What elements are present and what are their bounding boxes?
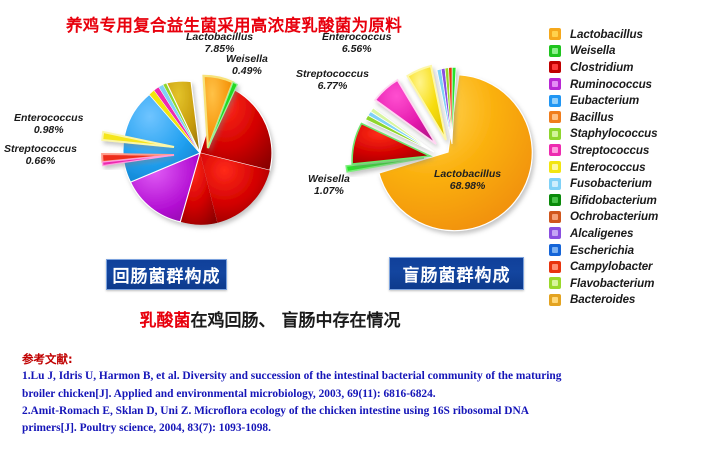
left-callout-enterococcus-pct: 0.98% bbox=[14, 124, 83, 136]
legend-swatch-icon bbox=[549, 194, 561, 206]
legend-swatch-icon bbox=[549, 111, 561, 123]
legend-item: Clostridium bbox=[545, 59, 703, 76]
cecum-chart-caption-text: 盲肠菌群构成 bbox=[403, 261, 511, 286]
legend-item: Fusobacterium bbox=[545, 175, 703, 192]
legend-item-label: Bacteroides bbox=[570, 293, 635, 306]
legend-item-label: Flavobacterium bbox=[570, 277, 654, 290]
references-block: 参考文献: 1.Lu J, Idris U, Harmon B, et al. … bbox=[22, 351, 682, 438]
right-callout-weisella-pct: 1.07% bbox=[308, 185, 350, 197]
legend-swatch-inner-icon bbox=[552, 181, 558, 187]
legend-item: Lactobacillus bbox=[545, 26, 703, 43]
right-callout-streptococcus-pct: 6.77% bbox=[296, 80, 369, 92]
legend-swatch-icon bbox=[549, 161, 561, 173]
legend-swatch-inner-icon bbox=[552, 98, 558, 104]
legend-item-label: Campylobacter bbox=[570, 260, 652, 273]
legend-swatch-inner-icon bbox=[552, 214, 558, 220]
legend-item-label: Alcaligenes bbox=[570, 227, 633, 240]
left-callout-enterococcus: Enterococcus 0.98% bbox=[14, 112, 83, 137]
legend-swatch-inner-icon bbox=[552, 48, 558, 54]
legend-swatch-icon bbox=[549, 227, 561, 239]
reference-line-4: primers[J]. Poultry science, 2004, 83(7)… bbox=[22, 420, 682, 437]
summary-caption: 乳酸菌在鸡回肠、 盲肠中存在情况 bbox=[0, 306, 540, 331]
right-callout-enterococcus: Enterococcus 6.56% bbox=[322, 31, 391, 56]
legend-item-label: Ochrobacterium bbox=[570, 210, 658, 223]
legend-swatch-icon bbox=[549, 28, 561, 40]
legend-item-label: Enterococcus bbox=[570, 161, 645, 174]
right-callout-lactobacillus-name: Lactobacillus bbox=[434, 168, 501, 180]
legend-item-label: Lactobacillus bbox=[570, 28, 643, 41]
legend-item: Alcaligenes bbox=[545, 225, 703, 242]
legend-swatch-icon bbox=[549, 261, 561, 273]
left-callout-streptococcus-name: Streptococcus bbox=[4, 143, 77, 155]
legend-swatch-inner-icon bbox=[552, 230, 558, 236]
genus-legend: LactobacillusWeisellaClostridiumRuminoco… bbox=[545, 26, 703, 308]
legend-item-label: Fusobacterium bbox=[570, 177, 652, 190]
page-title: 养鸡专用复合益生菌采用高浓度乳酸菌为原料 bbox=[66, 12, 486, 36]
references-heading: 参考文献: bbox=[22, 351, 682, 368]
ileum-pie-chart bbox=[92, 50, 322, 255]
legend-swatch-inner-icon bbox=[552, 64, 558, 70]
legend-swatch-icon bbox=[549, 78, 561, 90]
ileum-chart-caption-text: 回肠菌群构成 bbox=[113, 262, 221, 287]
legend-item-label: Eubacterium bbox=[570, 94, 639, 107]
legend-item: Bacteroides bbox=[545, 292, 703, 309]
legend-item-label: Staphylococcus bbox=[570, 127, 658, 140]
legend-item: Escherichia bbox=[545, 242, 703, 259]
cecum-chart-caption-box: 盲肠菌群构成 bbox=[389, 257, 524, 290]
right-callout-streptococcus: Streptococcus 6.77% bbox=[296, 68, 369, 93]
right-callout-streptococcus-name: Streptococcus bbox=[296, 68, 369, 80]
legend-item: Campylobacter bbox=[545, 258, 703, 275]
legend-swatch-icon bbox=[549, 45, 561, 57]
legend-swatch-icon bbox=[549, 294, 561, 306]
legend-item-label: Clostridium bbox=[570, 61, 633, 74]
legend-swatch-inner-icon bbox=[552, 81, 558, 87]
left-callout-streptococcus-pct: 0.66% bbox=[4, 155, 77, 167]
legend-item-label: Bacillus bbox=[570, 111, 614, 124]
legend-swatch-icon bbox=[549, 244, 561, 256]
right-callout-enterococcus-name: Enterococcus bbox=[322, 31, 391, 43]
legend-item: Flavobacterium bbox=[545, 275, 703, 292]
legend-swatch-inner-icon bbox=[552, 131, 558, 137]
summary-caption-highlight: 乳酸菌 bbox=[140, 311, 191, 331]
legend-swatch-icon bbox=[549, 95, 561, 107]
reference-line-1: 1.Lu J, Idris U, Harmon B, et al. Divers… bbox=[22, 368, 682, 385]
left-callout-enterococcus-name: Enterococcus bbox=[14, 112, 83, 124]
legend-item: Streptococcus bbox=[545, 142, 703, 159]
legend-item-label: Ruminococcus bbox=[570, 78, 652, 91]
legend-swatch-icon bbox=[549, 61, 561, 73]
right-callout-lactobacillus: Lactobacillus 68.98% bbox=[434, 168, 501, 193]
legend-swatch-inner-icon bbox=[552, 31, 558, 37]
legend-swatch-inner-icon bbox=[552, 114, 558, 120]
right-callout-weisella-name: Weisella bbox=[308, 173, 350, 185]
legend-swatch-inner-icon bbox=[552, 247, 558, 253]
legend-item: Staphylococcus bbox=[545, 126, 703, 143]
legend-item: Bacillus bbox=[545, 109, 703, 126]
left-callout-weisella-name: Weisella bbox=[226, 53, 268, 65]
ileum-chart-caption-box: 回肠菌群构成 bbox=[106, 259, 227, 290]
reference-line-3: 2.Amit-Romach E, Sklan D, Uni Z. Microfl… bbox=[22, 403, 682, 420]
legend-item: Weisella bbox=[545, 43, 703, 60]
legend-swatch-inner-icon bbox=[552, 264, 558, 270]
legend-swatch-icon bbox=[549, 144, 561, 156]
legend-item: Enterococcus bbox=[545, 159, 703, 176]
legend-swatch-icon bbox=[549, 211, 561, 223]
left-callout-weisella: Weisella 0.49% bbox=[226, 53, 268, 78]
legend-swatch-inner-icon bbox=[552, 297, 558, 303]
right-callout-lactobacillus-pct: 68.98% bbox=[434, 180, 501, 192]
left-callout-weisella-pct: 0.49% bbox=[226, 65, 268, 77]
legend-item: Bifidobacterium bbox=[545, 192, 703, 209]
legend-item-label: Escherichia bbox=[570, 244, 634, 257]
legend-swatch-icon bbox=[549, 128, 561, 140]
legend-swatch-inner-icon bbox=[552, 197, 558, 203]
right-callout-weisella: Weisella 1.07% bbox=[308, 173, 350, 198]
legend-swatch-inner-icon bbox=[552, 164, 558, 170]
legend-item: Ochrobacterium bbox=[545, 209, 703, 226]
legend-item-label: Weisella bbox=[570, 44, 615, 57]
legend-swatch-icon bbox=[549, 178, 561, 190]
reference-line-2: broiler chicken[J]. Applied and environm… bbox=[22, 386, 682, 403]
legend-item: Ruminococcus bbox=[545, 76, 703, 93]
left-callout-streptococcus: Streptococcus 0.66% bbox=[4, 143, 77, 168]
legend-swatch-inner-icon bbox=[552, 280, 558, 286]
summary-caption-rest: 在鸡回肠、 盲肠中存在情况 bbox=[191, 311, 401, 331]
legend-swatch-icon bbox=[549, 277, 561, 289]
legend-item: Eubacterium bbox=[545, 92, 703, 109]
legend-item-label: Bifidobacterium bbox=[570, 194, 657, 207]
legend-swatch-inner-icon bbox=[552, 147, 558, 153]
left-callout-lactobacillus-name: Lactobacillus bbox=[186, 31, 253, 43]
right-callout-enterococcus-pct: 6.56% bbox=[322, 43, 391, 55]
legend-item-label: Streptococcus bbox=[570, 144, 649, 157]
